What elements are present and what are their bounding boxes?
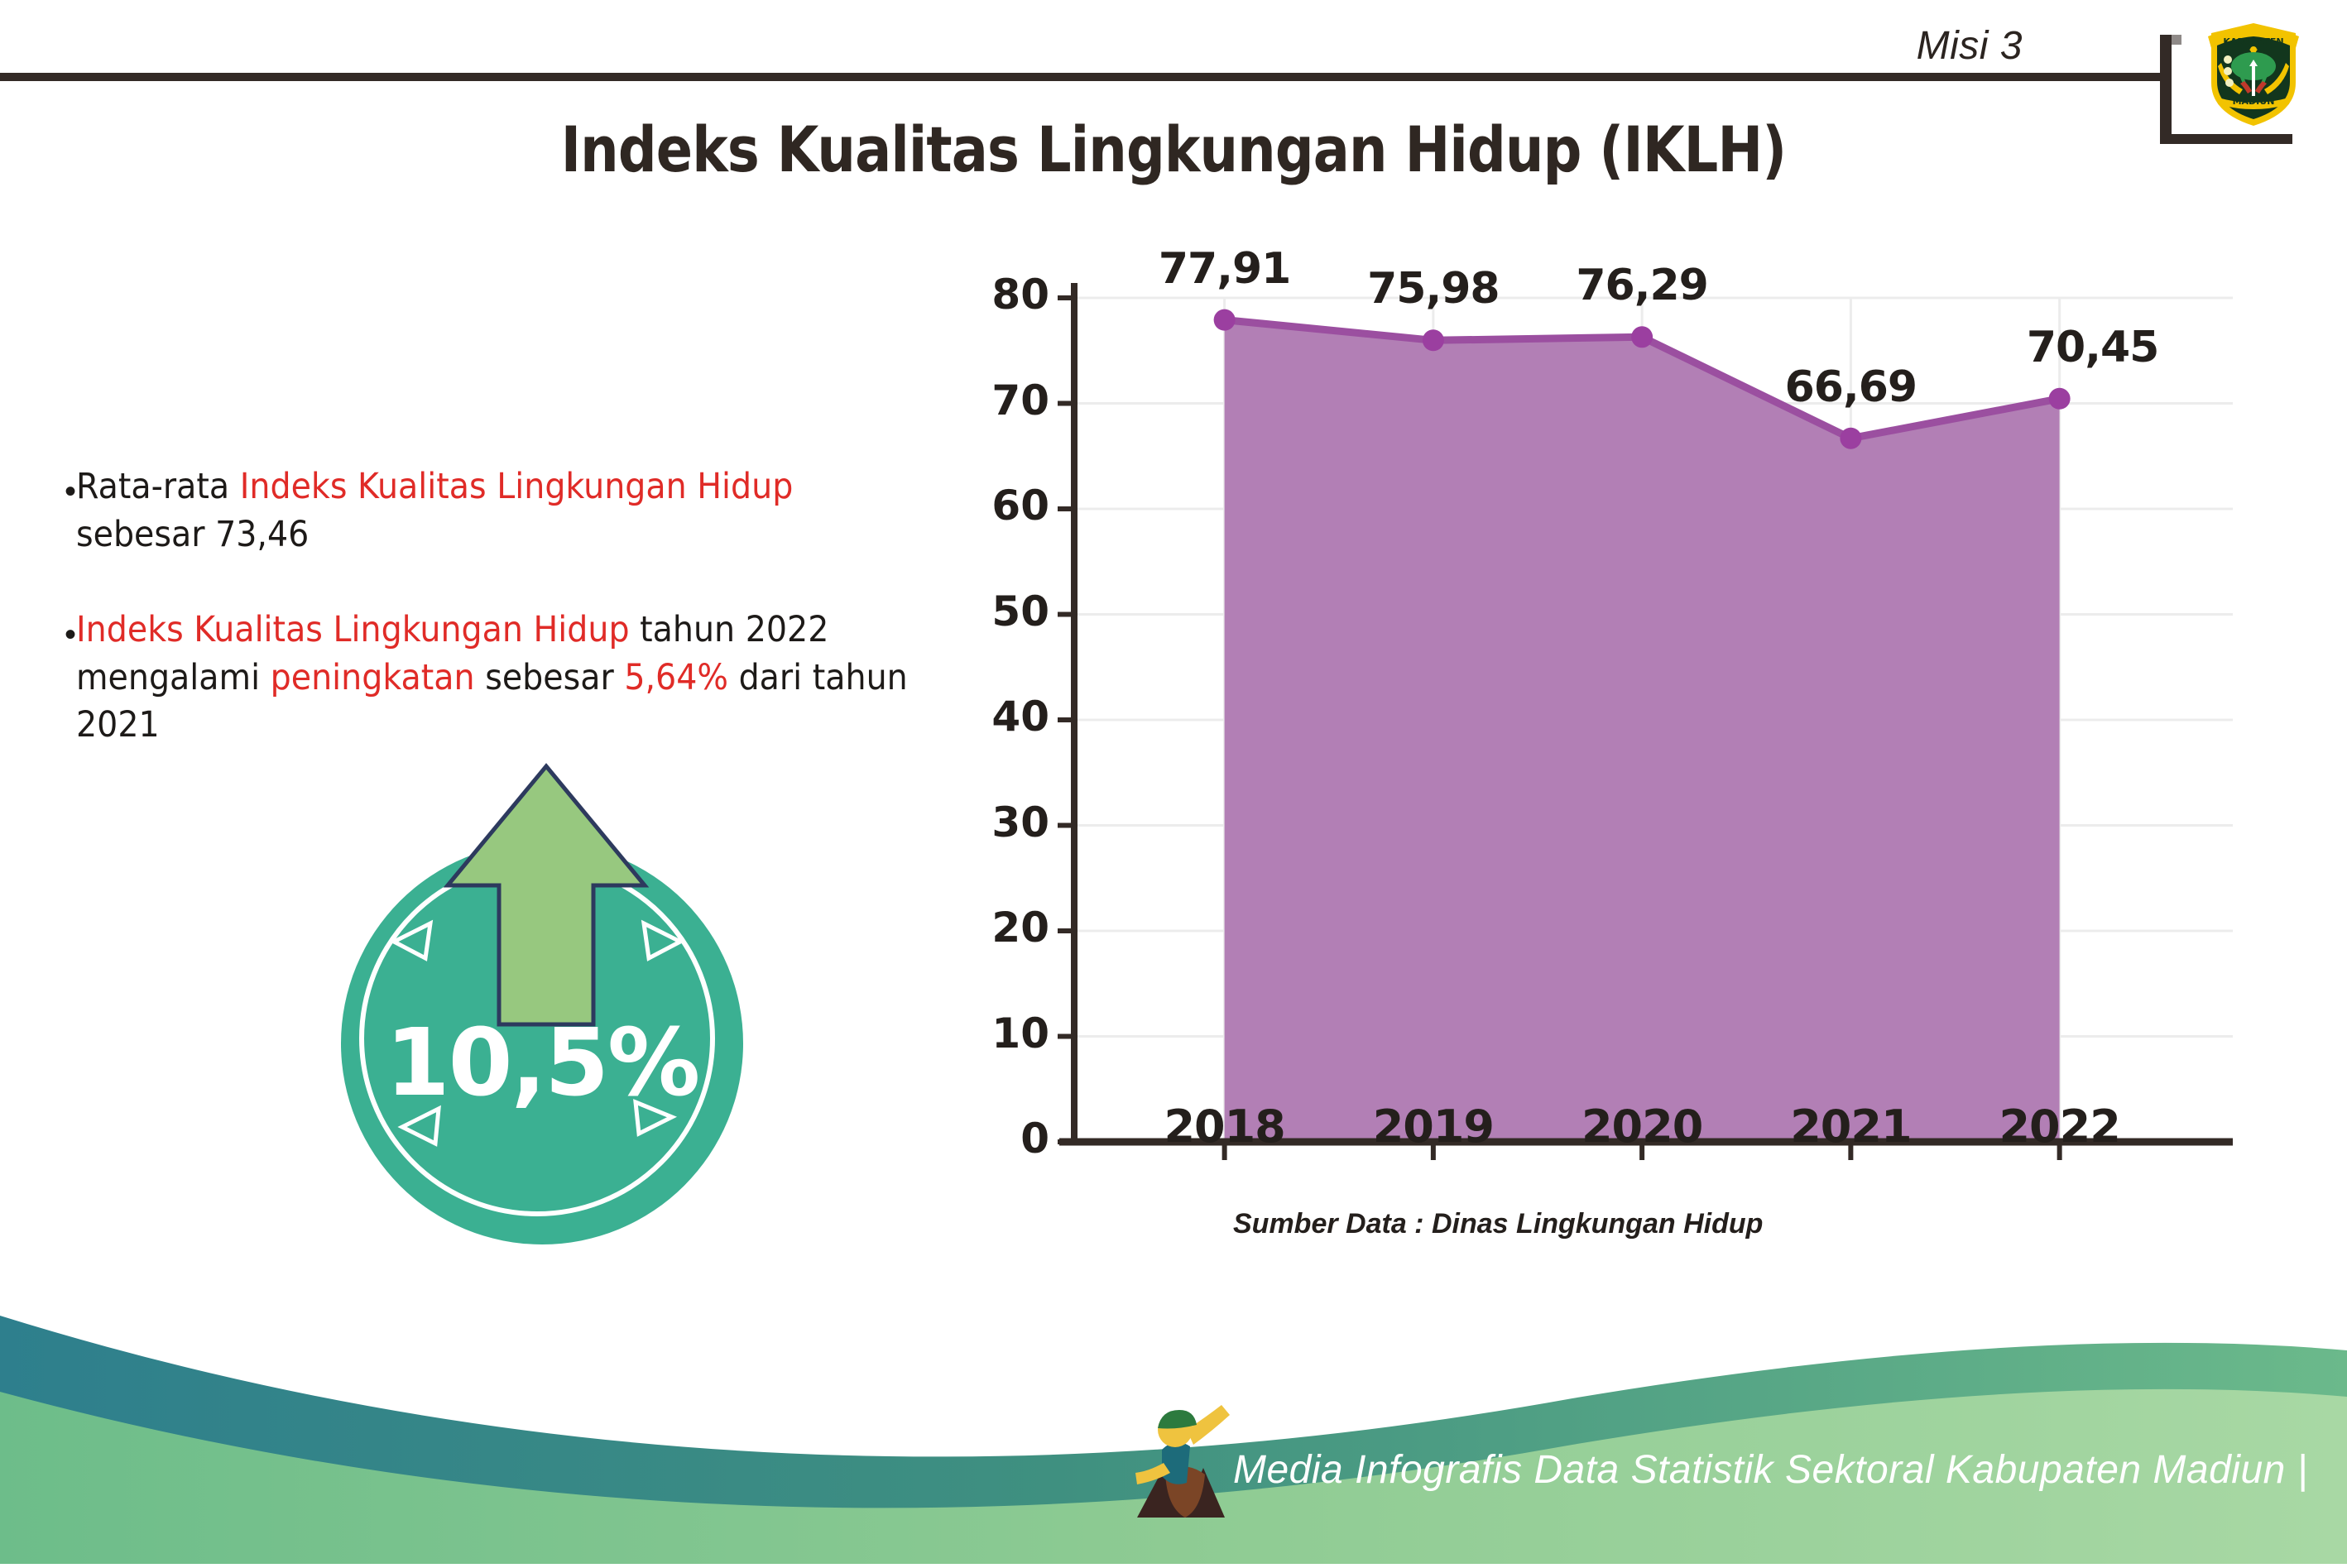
- y-axis-tick-label: 80: [950, 271, 1049, 319]
- data-point-marker: [1840, 428, 1861, 449]
- y-axis-tick-label: 20: [950, 904, 1049, 952]
- bullet-dot-icon: •: [65, 618, 76, 651]
- chart-canvas: [985, 273, 2259, 1216]
- misi-label: Misi 3: [1917, 23, 2023, 69]
- bullet-segment: sebesar 73,46: [76, 514, 309, 555]
- iklh-area-chart: 01020304050607080 20182019202020212022 7…: [985, 273, 2259, 1216]
- bullet-segment-highlight: peningkatan: [271, 657, 475, 698]
- bullet-segment: Rata-rata: [76, 466, 240, 507]
- up-arrow-icon: [443, 761, 650, 1030]
- data-point-label: 75,98: [1326, 264, 1541, 314]
- badge-tick-top-left-icon: [387, 917, 437, 971]
- x-axis-tick-label: 2018: [1134, 1100, 1316, 1153]
- data-point-marker: [1214, 309, 1236, 331]
- x-axis-tick-label: 2019: [1342, 1100, 1524, 1153]
- chart-source-note: Sumber Data : Dinas Lingkungan Hidup: [1233, 1208, 1763, 1240]
- y-axis-tick-label: 40: [950, 693, 1049, 741]
- footer-text: Media Infografis Data Statistik Sektoral…: [1233, 1447, 2308, 1493]
- footer: Media Infografis Data Statistik Sektoral…: [0, 1299, 2347, 1564]
- y-axis-tick-label: 0: [950, 1115, 1049, 1163]
- bullet-segment-highlight: Indeks Kualitas Lingkungan Hidup: [240, 466, 794, 507]
- list-item: • Indeks Kualitas Lingkungan Hidup tahun…: [65, 607, 991, 750]
- list-item: • Rata-rata Indeks Kualitas Lingkungan H…: [65, 463, 991, 559]
- bullet-segment: sebesar: [475, 657, 625, 698]
- data-point-label: 77,91: [1117, 244, 1332, 294]
- y-axis-tick-label: 70: [950, 376, 1049, 424]
- kabupaten-madiun-emblem-icon: KABUPATEN MADIUN: [2203, 12, 2304, 129]
- y-axis-tick-label: 50: [950, 587, 1049, 635]
- x-axis-tick-label: 2022: [1969, 1100, 2151, 1153]
- badge-tick-top-right-icon: [637, 917, 687, 971]
- data-point-marker: [1423, 329, 1444, 351]
- svg-text:MADIUN: MADIUN: [2233, 96, 2275, 107]
- y-axis-tick-label: 10: [950, 1009, 1049, 1057]
- data-point-label: 76,29: [1534, 261, 1749, 310]
- bullet-segment-highlight: 5,64%: [624, 657, 728, 698]
- header-divider-line: [0, 73, 2168, 81]
- increase-badge: 10,5%: [331, 761, 753, 1208]
- data-point-label: 70,45: [1985, 323, 2201, 372]
- svg-text:KABUPATEN: KABUPATEN: [2223, 36, 2283, 47]
- bullet-segment-highlight: Indeks Kualitas Lingkungan Hidup: [76, 609, 630, 650]
- bullet-text: Rata-rata Indeks Kualitas Lingkungan Hid…: [76, 463, 919, 559]
- bullet-text: Indeks Kualitas Lingkungan Hidup tahun 2…: [76, 607, 919, 750]
- data-point-marker: [1631, 326, 1653, 348]
- y-axis-tick-label: 30: [950, 798, 1049, 846]
- bracket-notch: [2172, 35, 2181, 45]
- badge-value: 10,5%: [331, 1009, 753, 1117]
- bullet-list: • Rata-rata Indeks Kualitas Lingkungan H…: [65, 463, 991, 798]
- chart-area-fill: [1225, 320, 2060, 1142]
- page-title: Indeks Kualitas Lingkungan Hidup (IKLH): [165, 113, 2183, 186]
- x-axis-tick-label: 2021: [1759, 1100, 1941, 1153]
- data-point-marker: [2049, 388, 2071, 410]
- bullet-dot-icon: •: [65, 475, 76, 508]
- x-axis-tick-label: 2020: [1551, 1100, 1733, 1153]
- media-infografis-logo-icon: [1132, 1400, 1230, 1524]
- y-axis-tick-label: 60: [950, 482, 1049, 530]
- data-point-label: 66,69: [1743, 362, 1958, 412]
